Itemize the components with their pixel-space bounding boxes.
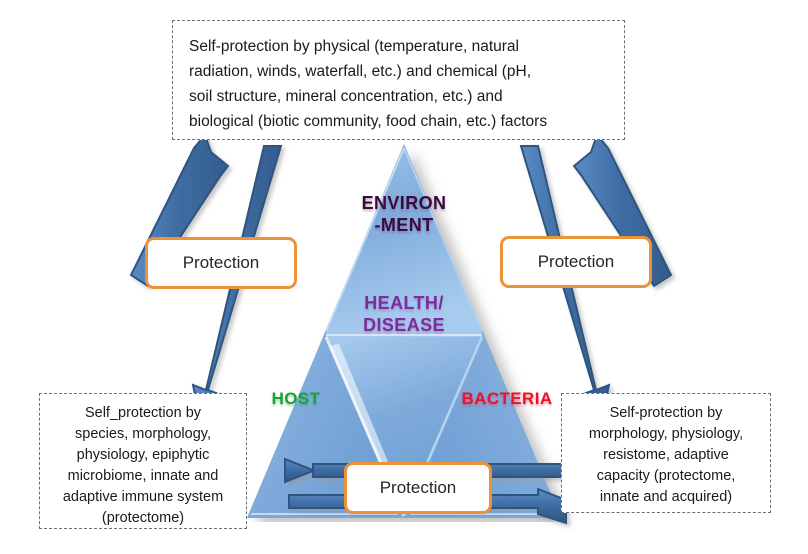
callout-protection-bottom-label: Protection <box>380 478 457 498</box>
callout-protection-left-label: Protection <box>183 253 260 273</box>
description-box-environment: Self-protection by physical (temperature… <box>172 20 625 140</box>
box-bottom-left-line-2: species, morphology, <box>46 424 240 445</box>
box-bottom-right-line-5: innate and acquired) <box>568 487 764 508</box>
box-bottom-right-line-3: resistome, adaptive <box>568 445 764 466</box>
box-top-line-4: biological (biotic community, food chain… <box>189 109 608 134</box>
box-bottom-left-line-4: microbiome, innate and <box>46 466 240 487</box>
description-box-bacteria: Self-protection by morphology, physiolog… <box>561 393 771 513</box>
box-bottom-left-line-1: Self_protection by <box>46 403 240 424</box>
description-box-host: Self_protection by species, morphology, … <box>39 393 247 529</box>
box-top-line-2: radiation, winds, waterfall, etc.) and c… <box>189 59 608 84</box>
callout-protection-right-label: Protection <box>538 252 615 272</box>
callout-protection-bottom: Protection <box>344 462 492 514</box>
callout-protection-left: Protection <box>145 237 297 289</box>
box-bottom-left-line-6: (protectome) <box>46 508 240 529</box>
diagram-canvas: ENVIRON -MENT HEALTH/ DISEASE HOST BACTE… <box>0 0 808 554</box>
box-bottom-right-line-1: Self-protection by <box>568 403 764 424</box>
box-bottom-left-line-5: adaptive immune system <box>46 487 240 508</box>
box-top-line-1: Self-protection by physical (temperature… <box>189 34 608 59</box>
box-top-line-3: soil structure, mineral concentration, e… <box>189 84 608 109</box>
callout-protection-right: Protection <box>500 236 652 288</box>
box-bottom-right-line-2: morphology, physiology, <box>568 424 764 445</box>
box-bottom-right-line-4: capacity (protectome, <box>568 466 764 487</box>
box-bottom-left-line-3: physiology, epiphytic <box>46 445 240 466</box>
